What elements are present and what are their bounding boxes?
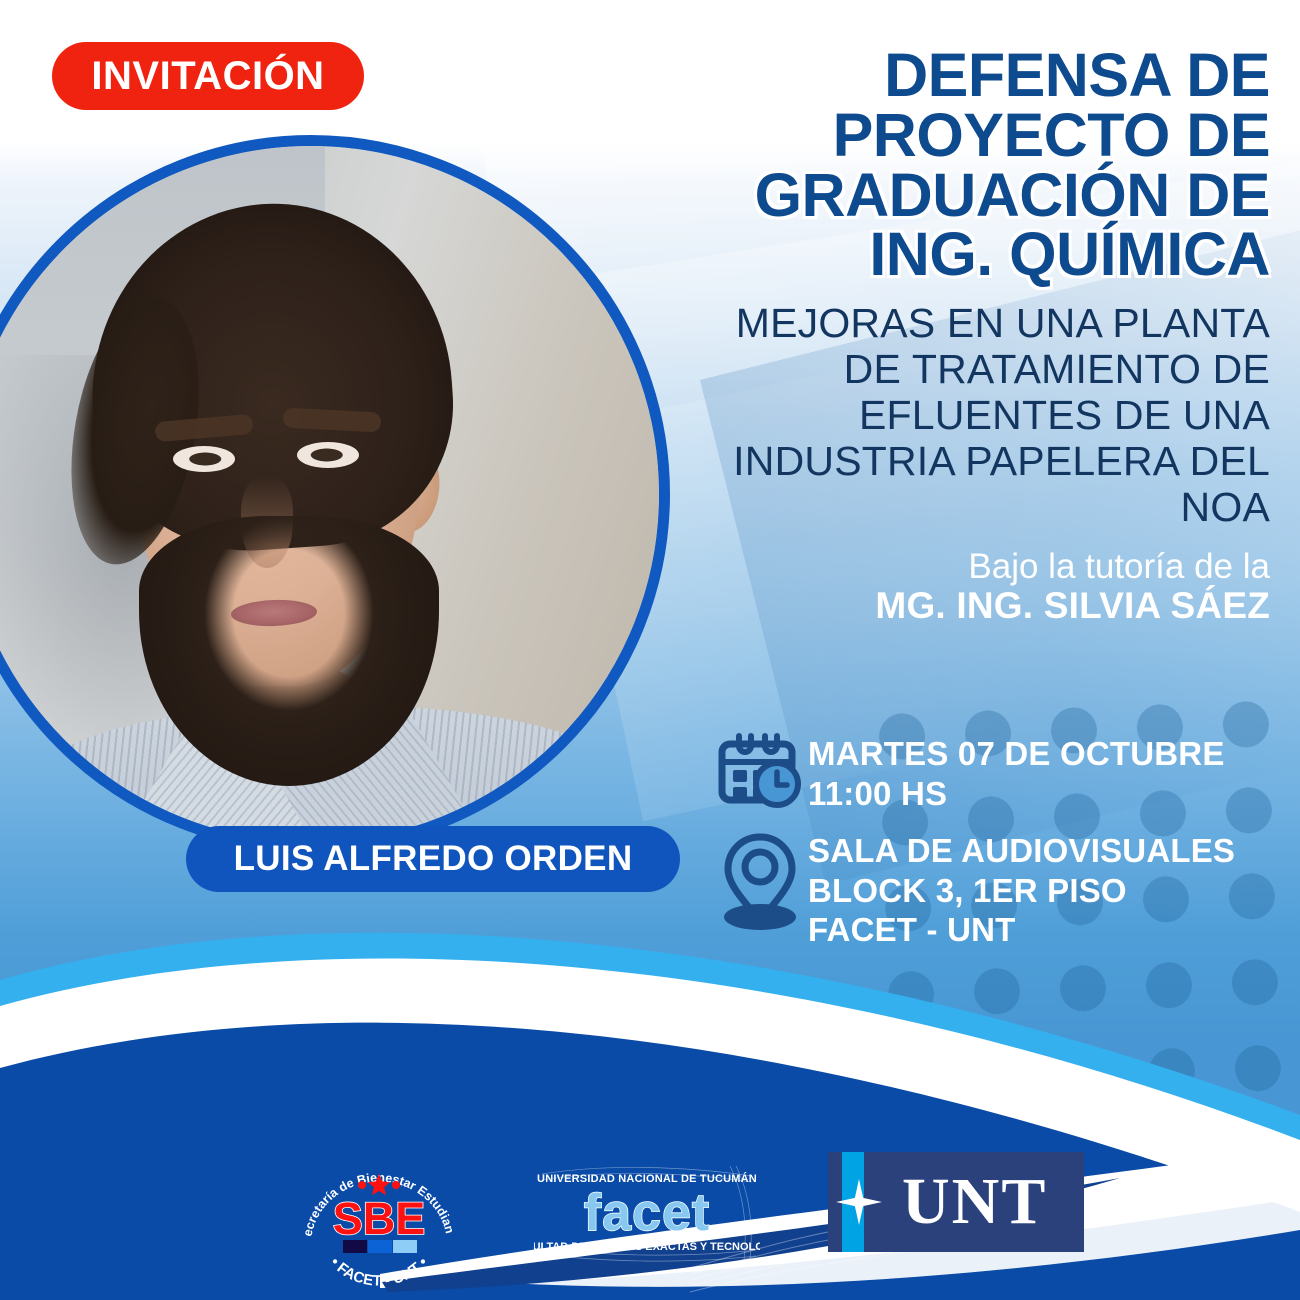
sbe-logo: Secretaría de Bienestar Estudiantil • FA… <box>294 1152 464 1292</box>
unt-logo: UNT <box>828 1152 1084 1252</box>
svg-text:• FACET - UNT •: • FACET - UNT • <box>327 1254 432 1290</box>
facet-wordmark: facet <box>584 1184 710 1242</box>
event-date-text: MARTES 07 DE OCTUBRE 11:00 HS <box>808 730 1272 813</box>
title-line-2: PROYECTO DE <box>690 106 1270 166</box>
event-date-row: MARTES 07 DE OCTUBRE 11:00 HS <box>712 730 1272 813</box>
tutor-prefix: Bajo la tutoría de la <box>690 548 1270 586</box>
tutor-name: MG. ING. SILVIA SÁEZ <box>690 585 1270 626</box>
subtitle-line-2: DE TRATAMIENTO DE <box>690 347 1270 393</box>
event-date-line-2: 11:00 HS <box>808 774 1272 814</box>
event-details: MARTES 07 DE OCTUBRE 11:00 HS SALA DE AU… <box>712 730 1272 964</box>
speaker-name-badge: LUIS ALFREDO ORDEN <box>186 826 680 892</box>
project-subtitle: MEJORAS EN UNA PLANTA DE TRATAMIENTO DE … <box>690 301 1270 531</box>
calendar-clock-icon <box>712 730 808 808</box>
event-location-row: SALA DE AUDIOVISUALES BLOCK 3, 1ER PISO … <box>712 827 1272 950</box>
title-line-4: ING. QUÍMICA <box>690 225 1270 285</box>
facet-bottom-text: FACULTAD DE CIENCIAS EXACTAS Y TECNOLOGÍ… <box>534 1240 760 1253</box>
speaker-name-label: LUIS ALFREDO ORDEN <box>234 839 633 879</box>
sbe-acronym: SBE <box>333 1193 426 1244</box>
sbe-ring-bottom-text: • FACET - UNT • <box>327 1254 432 1290</box>
subtitle-line-5: NOA <box>690 485 1270 531</box>
speaker-photo <box>0 135 670 853</box>
facet-logo: UNIVERSIDAD NACIONAL DE TUCUMÁN facet FA… <box>534 1160 760 1272</box>
subtitle-line-3: EFLUENTES DE UNA <box>690 393 1270 439</box>
event-date-line-1: MARTES 07 DE OCTUBRE <box>808 734 1272 774</box>
invitation-badge: INVITACIÓN <box>52 42 364 110</box>
speaker-photo-inner <box>0 146 659 842</box>
title-line-3: GRADUACIÓN DE <box>690 166 1270 226</box>
event-location-line-3: FACET - UNT <box>808 910 1272 950</box>
invitation-poster: INVITACIÓN LUIS ALFREDO ORDEN <box>0 0 1300 1300</box>
event-location-line-2: BLOCK 3, 1ER PISO <box>808 871 1272 911</box>
event-text-column: DEFENSA DE PROYECTO DE GRADUACIÓN DE ING… <box>690 46 1270 627</box>
footer-logos: Secretaría de Bienestar Estudiantil • FA… <box>0 1144 1300 1294</box>
title-line-1: DEFENSA DE <box>690 46 1270 106</box>
event-location-line-1: SALA DE AUDIOVISUALES <box>808 831 1272 871</box>
map-pin-icon <box>712 827 808 933</box>
invitation-badge-label: INVITACIÓN <box>91 54 324 99</box>
subtitle-line-1: MEJORAS EN UNA PLANTA <box>690 301 1270 347</box>
event-location-text: SALA DE AUDIOVISUALES BLOCK 3, 1ER PISO … <box>808 827 1272 950</box>
unt-wordmark: UNT <box>902 1164 1047 1240</box>
subtitle-line-4: INDUSTRIA PAPELERA DEL <box>690 439 1270 485</box>
page-title: DEFENSA DE PROYECTO DE GRADUACIÓN DE ING… <box>690 46 1270 285</box>
photo-eye-left <box>173 446 235 472</box>
photo-eye-right <box>297 442 359 468</box>
